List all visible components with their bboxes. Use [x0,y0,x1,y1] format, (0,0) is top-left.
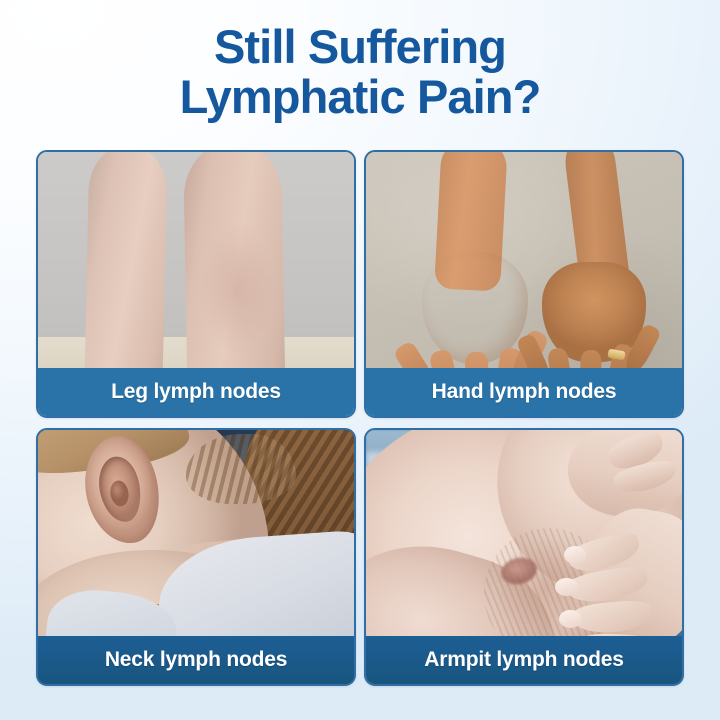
caption-hand-lymph-nodes: Hand lymph nodes [366,368,682,416]
card-neck-lymph-nodes[interactable]: Neck lymph nodes [36,428,356,686]
card-hand-lymph-nodes[interactable]: Hand lymph nodes [364,150,684,418]
lymph-node-card-grid: Leg lymph nodes Hand lymph nodes [36,150,684,686]
card-armpit-lymph-nodes[interactable]: Armpit lymph nodes [364,428,684,686]
headline-line-1: Still Suffering [0,22,720,72]
caption-armpit-lymph-nodes: Armpit lymph nodes [366,636,682,684]
caption-leg-lymph-nodes: Leg lymph nodes [38,368,354,416]
headline-line-2: Lymphatic Pain? [0,72,720,122]
page-title: Still Suffering Lymphatic Pain? [0,0,720,122]
card-leg-lymph-nodes[interactable]: Leg lymph nodes [36,150,356,418]
caption-neck-lymph-nodes: Neck lymph nodes [38,636,354,684]
